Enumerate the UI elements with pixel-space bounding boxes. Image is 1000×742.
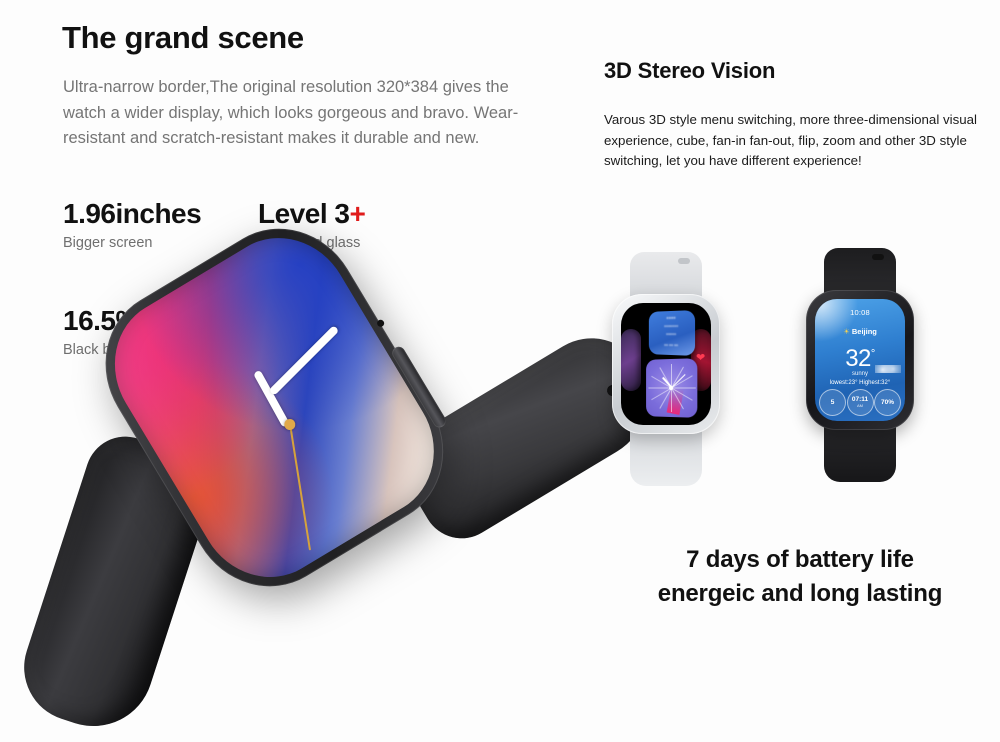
widget-alarm[interactable]: 07:11 AM	[847, 389, 874, 416]
second-hand	[289, 424, 311, 551]
battery-tagline-line1: 7 days of battery life	[600, 543, 1000, 577]
watch-time: 10:08	[815, 308, 905, 317]
battery-tagline: 7 days of battery life energeic and long…	[600, 543, 1000, 611]
weather-temperature: 32°	[815, 341, 905, 372]
hero-watch-product-image	[70, 200, 590, 700]
weather-temperature-value: 32	[845, 345, 871, 372]
left-description: Ultra-narrow border,The original resolut…	[63, 75, 533, 152]
page-title: The grand scene	[62, 20, 304, 56]
weather-condition: sunny	[815, 371, 905, 377]
carousel-card-clock	[646, 358, 697, 418]
microphone-hole-icon	[376, 318, 386, 328]
weather-city-label: Beijing	[852, 327, 877, 336]
battery-tagline-line2: energeic and long lasting	[600, 577, 1000, 611]
widget-steps[interactable]: 5	[819, 389, 846, 416]
white-watch-case: ❤ ●●●● ●●●●●●● ●●●●● ●● ●● ●●	[612, 294, 720, 434]
heart-icon: ❤	[696, 353, 705, 364]
carousel-card-info: ●●●● ●●●●●●● ●●●●● ●● ●● ●●	[649, 310, 695, 356]
carousel-card-left	[621, 329, 641, 391]
minute-hand	[269, 325, 340, 396]
right-description: Varous 3D style menu switching, more thr…	[604, 110, 996, 172]
widget-battery[interactable]: 70%	[874, 389, 901, 416]
degree-symbol: °	[871, 348, 875, 360]
sun-icon: ☀	[843, 327, 850, 336]
band-notch	[872, 254, 884, 260]
weather-range: lowest:23° Highest:32°	[815, 380, 905, 386]
product-banner: The grand scene Ultra-narrow border,The …	[0, 0, 1000, 716]
band-notch	[678, 258, 690, 264]
weather-widget-row: 5 07:11 AM 70%	[819, 389, 901, 416]
weather-city: ☀Beijing	[815, 327, 905, 336]
weather-watch-face: 10:08 ☀Beijing 32° sunny lowest:23° High…	[815, 299, 905, 421]
white-watch-screen: ❤ ●●●● ●●●●●●● ●●●●● ●● ●● ●●	[621, 303, 711, 425]
section-title-3d: 3D Stereo Vision	[604, 58, 775, 84]
mini-hand-hub	[669, 386, 673, 390]
black-watch-case: 10:08 ☀Beijing 32° sunny lowest:23° High…	[806, 290, 914, 430]
black-watch-screen: 10:08 ☀Beijing 32° sunny lowest:23° High…	[815, 299, 905, 421]
